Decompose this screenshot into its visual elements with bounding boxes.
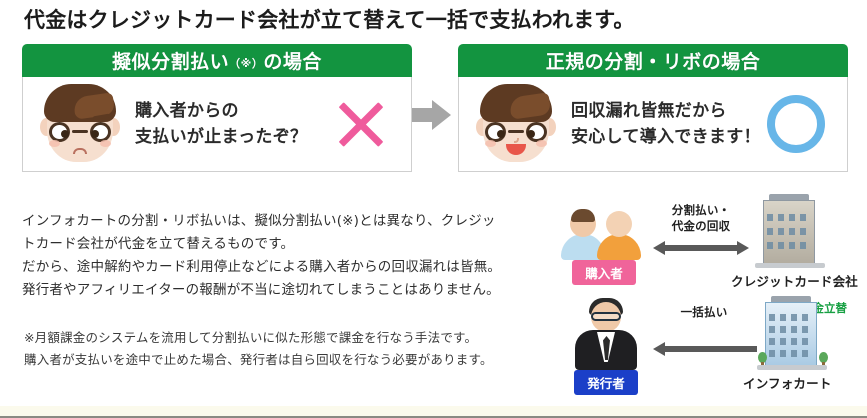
credit-card-company-label: クレジットカード会社 [731, 271, 858, 290]
panel-header-left-main: 擬似分割払い [112, 51, 229, 73]
circle-mark-icon [767, 95, 825, 153]
building-base [755, 263, 825, 268]
pupil-left [61, 130, 69, 138]
issuer-glasses-icon [591, 312, 621, 321]
comparison-panel-pseudo-installment: 擬似分割払い（※）の場合 購入者からの 支 [22, 44, 412, 172]
issuer-badge: 発行者 [574, 370, 638, 395]
body-copy: インフォカートの分割・リボ払いは、擬似分割払い(※)とは異なり、クレジッ トカー… [22, 210, 542, 302]
infocart-building-icon [753, 294, 831, 370]
infographic-page: 代金はクレジットカード会社が立て替えて一括で支払われます。 擬似分割払い（※）の… [0, 0, 867, 418]
panel-header-left-tail: の場合 [263, 51, 322, 73]
actor-buyer: 購入者 [561, 198, 647, 285]
cheek-left [49, 140, 60, 147]
woman-head [606, 211, 632, 237]
buyer-person-woman [597, 211, 641, 260]
panel-left-message: 購入者からの 支払いが止まったぞ？ [135, 98, 333, 150]
footnote: ※月額課金のシステムを流用して分割払いに似た形態で課金を行なう手法です。 購入者… [24, 327, 544, 371]
label-installment-collection: 分割払い・ 代金の回収 [653, 202, 749, 234]
glasses-icon [47, 122, 113, 142]
pupil-left [497, 130, 505, 138]
buyer-badge-wrap: 購入者 [561, 260, 647, 285]
panel-right-message: 回収漏れ皆無だから 安心して導入できます！ [571, 98, 767, 150]
building-base [757, 365, 827, 370]
arrow-head-right [737, 241, 749, 255]
building-windows-row-4 [769, 350, 813, 357]
man-head [570, 211, 596, 237]
footnote-line-1: ※月額課金のシステムを流用して分割払いに似た形態で課金を行なう手法です。 [24, 327, 544, 349]
building-windows-row-3 [767, 242, 811, 249]
actor-credit-card-company: クレジットカード会社 [751, 192, 858, 290]
glasses-bridge [508, 130, 524, 133]
building-windows-row-2 [769, 326, 813, 333]
panel-header-right-label: 正規の分割・リボの場合 [546, 47, 761, 74]
infocart-label: インフォカート [743, 373, 832, 392]
lens-left [485, 122, 506, 142]
arrow-shaft [663, 346, 757, 352]
label-lump-sum-payment: 一括払い [659, 304, 749, 320]
glasses-bridge [72, 130, 88, 133]
issuer-businessman-icon [569, 298, 643, 370]
issuer-badge-wrap: 発行者 [569, 370, 643, 395]
cheek-right [536, 140, 547, 147]
building-windows-row-2 [767, 228, 811, 235]
body-copy-line-4: 発行者やアフィリエイターの報酬が不当に途切れてしまうことはありません。 [22, 279, 542, 302]
arrow-shaft [663, 245, 739, 251]
worried-face-icon [37, 78, 123, 170]
footnote-line-2: 購入者が支払いを途中で止めた場合、発行者は自ら回収を行なう必要があります。 [24, 349, 544, 371]
credit-card-company-building-icon [751, 192, 829, 268]
lens-left [49, 122, 70, 142]
arrow-bidirectional-buyer-credit [653, 241, 749, 255]
panel-header-right: 正規の分割・リボの場合 [458, 44, 848, 77]
building-windows-row-3 [769, 338, 813, 345]
body-copy-line-1: インフォカートの分割・リボ払いは、擬似分割払い(※)とは異なり、クレジッ [22, 210, 542, 233]
arrow-left-infocart-to-issuer [653, 342, 757, 356]
cheek-right [100, 140, 111, 147]
pupil-right [91, 130, 99, 138]
actor-infocart: インフォカート [753, 294, 832, 392]
panel-left-message-line1: 購入者からの [135, 98, 333, 124]
panel-header-left-note: （※） [229, 57, 263, 70]
panel-header-left: 擬似分割払い（※）の場合 [22, 44, 412, 77]
panel-right-message-line1: 回収漏れ皆無だから [571, 98, 767, 124]
building-windows-row-1 [769, 314, 813, 321]
cheek-left [485, 140, 496, 147]
label-installment-collection-line1: 分割払い・ [653, 202, 749, 218]
panel-body-right: 回収漏れ皆無だから 安心して導入できます！ [458, 77, 848, 172]
arrow-head [432, 100, 451, 130]
cross-mark-icon [333, 96, 389, 152]
comparison-panel-regular-installment: 正規の分割・リボの場合 回収漏れ皆無だから 安心して導入でき [458, 44, 848, 172]
arrow-shaft [412, 108, 434, 122]
arrow-right-icon [412, 100, 452, 130]
sad-mouth [73, 148, 87, 154]
body-copy-line-3: だから、途中解約やカード利用停止などによる購入者からの回収漏れは皆無。 [22, 256, 542, 279]
woman-body [597, 234, 641, 260]
buyer-couple-icon [561, 198, 647, 260]
panel-left-message-line2: 支払いが止まったぞ？ [135, 124, 333, 150]
panel-body-left: 購入者からの 支払いが止まったぞ？ [22, 77, 412, 172]
building-windows-row-1 [767, 214, 811, 221]
buyer-badge: 購入者 [572, 260, 636, 285]
page-title: 代金はクレジットカード会社が立て替えて一括で支払われます。 [24, 4, 844, 36]
body-copy-line-2: トカード会社が代金を立て替えるものです。 [22, 233, 542, 256]
panel-header-left-label: 擬似分割払い（※）の場合 [112, 47, 322, 74]
payment-flow-diagram: 購入者 分割払い・ 代金の回収 クレジットカード会社 [555, 196, 855, 401]
lens-right [90, 122, 111, 142]
hair [480, 84, 552, 122]
actor-issuer: 発行者 [569, 298, 643, 395]
panel-right-message-line2: 安心して導入できます！ [571, 124, 767, 150]
lens-right [526, 122, 547, 142]
label-installment-collection-line2: 代金の回収 [653, 218, 749, 234]
bottom-strip [0, 406, 867, 416]
happy-face-icon [473, 78, 559, 170]
pupil-right [527, 130, 535, 138]
